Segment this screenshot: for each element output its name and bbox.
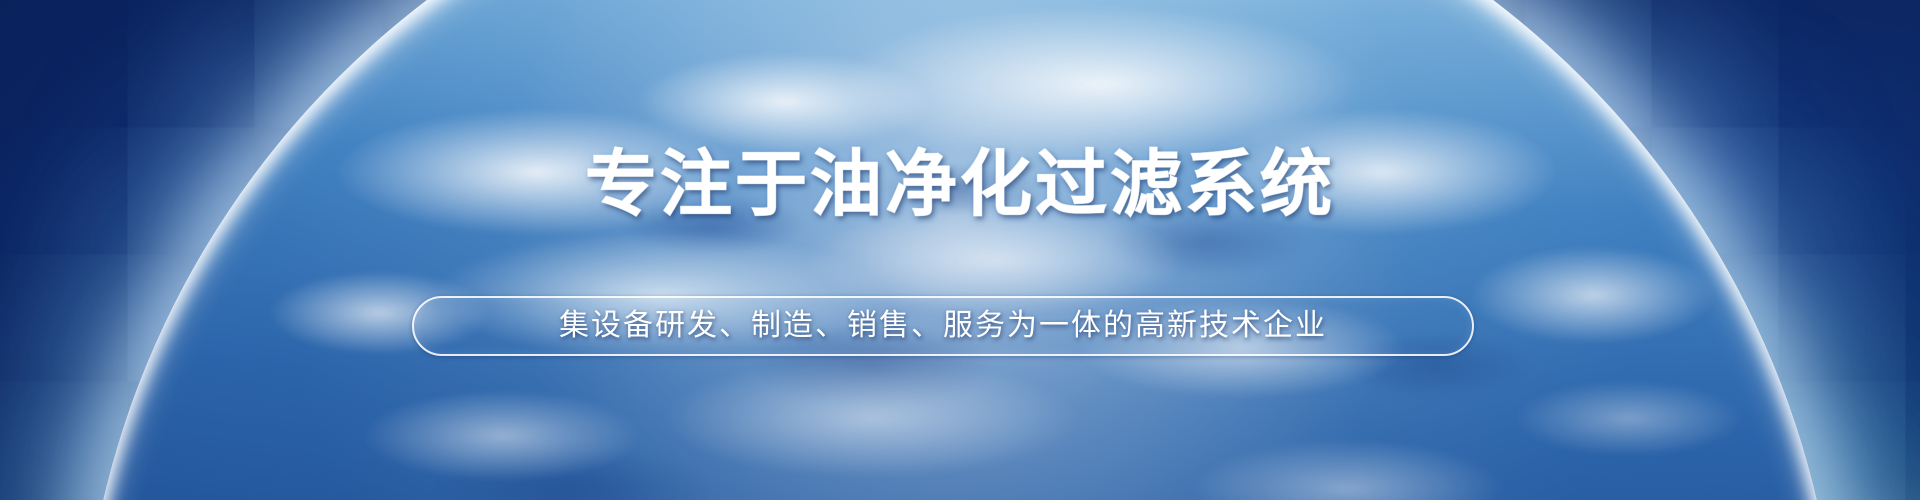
hero-banner: 专注于油净化过滤系统 集设备研发、制造、销售、服务为一体的高新技术企业 (0, 0, 1920, 500)
banner-subtitle: 集设备研发、制造、销售、服务为一体的高新技术企业 (559, 309, 1327, 343)
banner-headline: 专注于油净化过滤系统 (0, 146, 1920, 224)
banner-content: 专注于油净化过滤系统 集设备研发、制造、销售、服务为一体的高新技术企业 (0, 0, 1920, 500)
subtitle-pill-frame: 集设备研发、制造、销售、服务为一体的高新技术企业 (412, 296, 1474, 356)
